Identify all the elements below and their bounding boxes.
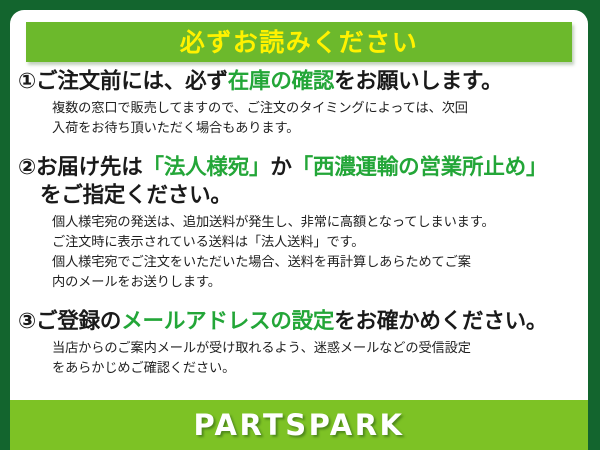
notice-item-2-heading-highlight-2: 「西濃運輸の営業所止め」 — [292, 155, 548, 180]
notice-item-2-detail-line-2: ご注文時に表示されている送料は「法人送料」です。 — [18, 233, 574, 253]
notice-item-2-marker: ② — [18, 155, 36, 180]
notice-item-2-heading: ②お届け先は「法人様宛」か「西濃運輸の営業所止め」 — [18, 154, 574, 182]
footer-banner: PARTSPARK — [10, 400, 588, 450]
notice-item-2-heading-part-3: か — [270, 155, 291, 180]
notice-item-1-heading-highlight: 在庫の確認 — [228, 69, 335, 94]
notice-item-2-detail-line-1: 個人様宅宛の発送は、追加送料が発生し、非常に高額となってしまいます。 — [18, 213, 574, 233]
notice-item-2-detail-line-3: 個人様宅宛でご注文をいただいた場合、送料を再計算しあらためてご案 — [18, 253, 574, 273]
page-title: 必ずお読みください — [180, 30, 419, 55]
notice-item-1-heading: ①ご注文前には、必ず在庫の確認をお願いします。 — [18, 68, 574, 96]
notice-item-3-heading-part-3: をお確かめください。 — [334, 309, 547, 334]
notice-card: 必ずお読みください ①ご注文前には、必ず在庫の確認をお願いします。 複数の窓口で… — [10, 10, 588, 450]
notice-item-2: ②お届け先は「法人様宛」か「西濃運輸の営業所止め」 をご指定ください。 個人様宅… — [18, 154, 574, 294]
notice-item-2-heading-highlight-1: 「法人様宛」 — [143, 155, 271, 180]
brand-logo-text: PARTSPARK — [193, 411, 404, 440]
notice-item-1-heading-part-3: をお願いします。 — [334, 69, 502, 94]
notice-item-3-heading: ③ご登録のメールアドレスの設定をお確かめください。 — [18, 308, 574, 336]
notice-item-3-heading-highlight: メールアドレスの設定 — [121, 309, 334, 334]
notice-item-2-detail-line-4: 内のメールをお送りします。 — [18, 273, 574, 293]
notice-frame: 必ずお読みください ①ご注文前には、必ず在庫の確認をお願いします。 複数の窓口で… — [0, 0, 600, 450]
notice-item-1-marker: ① — [18, 69, 36, 94]
header-banner: 必ずお読みください — [26, 22, 572, 62]
notice-item-3-heading-part-1: ご登録の — [36, 309, 121, 334]
notice-list: ①ご注文前には、必ず在庫の確認をお願いします。 複数の窓口で販売してますので、ご… — [10, 68, 588, 384]
notice-item-2-heading-part-1: お届け先は — [36, 155, 143, 180]
notice-item-1-heading-part-1: ご注文前には、必ず — [36, 69, 228, 94]
notice-item-1-detail-line-1: 複数の窓口で販売してますので、ご注文のタイミングによっては、次回 — [18, 99, 574, 119]
notice-item-3-detail-line-2: をあらかじめご確認ください。 — [18, 359, 574, 379]
notice-item-2-heading-line-2: をご指定ください。 — [18, 182, 574, 210]
notice-item-1: ①ご注文前には、必ず在庫の確認をお願いします。 複数の窓口で販売してますので、ご… — [18, 68, 574, 140]
notice-item-3: ③ご登録のメールアドレスの設定をお確かめください。 当店からのご案内メールが受け… — [18, 308, 574, 380]
notice-item-1-detail-line-2: 入荷をお待ち頂いただく場合もあります。 — [18, 119, 574, 139]
notice-item-3-marker: ③ — [18, 309, 36, 334]
notice-item-3-detail-line-1: 当店からのご案内メールが受け取れるよう、迷惑メールなどの受信設定 — [18, 339, 574, 359]
